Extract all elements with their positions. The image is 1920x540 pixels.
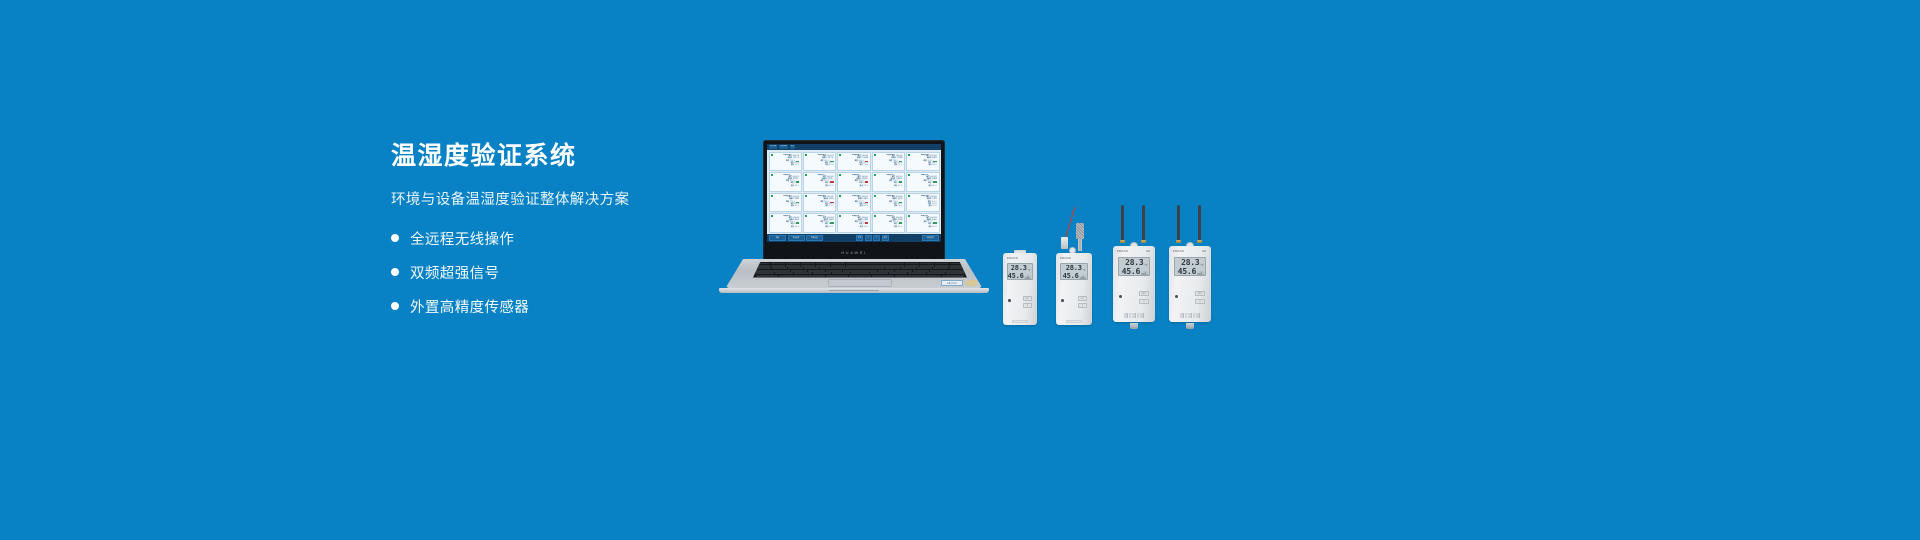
card-field-rows: 编号0004-001通道名原料库温度20.5 ℃湿度49.7 %露点6.0 ℃ [771,218,800,229]
device-brand-label: ENCON [1117,250,1128,253]
device-sensor-port [1186,323,1194,329]
lcd-footer-text: REC [1061,276,1086,278]
device-wireless-logger-1: ENCON H8 28.3 ℃ 45.6 %RH REC SET ▼ [1113,205,1155,325]
card-field-label: 露点 [894,227,897,229]
pager-page-1[interactable]: 1 [865,235,872,241]
keyboard-key[interactable] [779,275,801,277]
monitoring-card[interactable]: 监测点13编号0003-003通道名称量间温度22.7 ℃湿度46.8 %露点6… [837,193,870,213]
device-status-led [1175,295,1178,298]
card-field-row: 露点8.2 ℃ [805,186,834,188]
card-field-label: 露点 [929,186,932,188]
device-probe-logger: ENCON 28.3 ℃ 45.6 %RH REC SET ▼ [1056,239,1092,325]
laptop-base: CE FCC [719,259,989,296]
device-compact-logger: ENCON 28.3 ℃ 45.6 %RH REC SET ▼ [1003,253,1037,325]
card-field-rows: 编号0003-001通道名灭菌柜温度27.4 ℃湿度44.2 %露点9.1 ℃ [771,197,800,208]
lcd-temperature-value: 28.3 [1011,264,1027,272]
bullet-dot-icon [391,234,399,242]
device-lcd-display: 28.3 ℃ 45.6 %RH REC [1118,257,1150,276]
device-brand-label: ENCON [1060,257,1071,260]
monitoring-card[interactable]: 监测点19编号0004-004通道名试验箱温度26.7 ℃湿度53.1 %露点8… [872,213,905,233]
card-field-value: 7.6 ℃ [898,206,902,208]
device-status-led [1061,299,1064,302]
card-field-row: 露点8.4 ℃ [839,227,868,229]
card-field-rows: 编号0003-002通道名洁净区温度23.5 ℃湿度45.9 %露点7.3 ℃ [805,197,834,208]
card-field-value: 6.0 ℃ [795,227,799,229]
keyboard-key[interactable] [802,275,824,277]
keyboard-key[interactable] [918,275,940,277]
card-field-label: 露点 [929,227,932,229]
export-report-button[interactable]: 导出报表 [788,235,805,241]
card-field-row: 露点8.6 ℃ [908,186,937,188]
lcd-temperature-value: 28.3 [1066,264,1082,272]
card-field-rows: 编号0004-004通道名试验箱温度26.7 ℃湿度53.1 %露点8.9 ℃ [874,218,903,229]
device-status-led [1008,299,1011,302]
card-field-rows: 编号0001-001通道名冷库一区温度17.5 ℃湿度45.8 %露点5.2 ℃ [771,156,800,167]
tab-history[interactable]: 历史数据 [779,145,787,149]
card-field-label: 露点 [791,227,794,229]
card-field-value: 6.9 ℃ [864,206,868,208]
monitoring-card[interactable]: 监测点20编号0004-005通道名备用点温度22.1 ℃湿度46.4 %露点6… [906,213,939,233]
device-body: ENCON 28.3 ℃ 45.6 %RH REC SET ▼ [1056,253,1092,325]
device-down-button[interactable]: ▼ [1023,303,1032,308]
monitoring-card[interactable]: 监测点14编号0003-004通道名包装间温度24.2 ℃湿度48.1 %露点7… [872,193,905,213]
card-field-value: 6.1 ℃ [932,206,936,208]
card-field-row: 露点5.6 ℃ [805,165,834,167]
lcd-temperature-line: 28.3 ℃ [1063,264,1086,272]
device-lcd-display: 28.3 ℃ 45.6 %RH REC [1174,257,1206,276]
device-lineup: ENCON 28.3 ℃ 45.6 %RH REC SET ▼ [1003,195,1243,325]
device-bottom-grip [1012,320,1028,323]
device-wireless-logger-2: ENCON H8 28.3 ℃ 45.6 %RH REC SET ▼ [1169,205,1211,325]
card-field-label: 露点 [825,165,828,167]
card-field-value: 6.3 ℃ [864,186,868,188]
card-field-label: 露点 [825,227,828,229]
device-lcd-display: 28.3 ℃ 45.6 %RH REC [1007,263,1033,280]
device-brand-label: ENCON [1007,257,1018,260]
antenna-base-left [1176,240,1181,243]
device-lcd-display: 28.3 ℃ 45.6 %RH REC [1060,263,1088,280]
device-down-button[interactable]: ▼ [1139,299,1149,304]
lcd-footer-text: REC [1119,272,1148,274]
card-field-row: 露点5.8 ℃ [805,227,834,229]
keyboard-key[interactable] [895,275,917,277]
card-field-rows: 编号0001-003通道名恒温箱A温度24.6 ℃湿度52.1 %露点7.4 ℃ [839,156,868,167]
device-set-button[interactable]: SET [1139,291,1149,296]
antenna-left [1121,205,1124,242]
card-field-value: 8.9 ℃ [898,227,902,229]
card-field-rows: 编号0004-005通道名备用点温度22.1 ℃湿度46.4 %露点6.5 ℃ [908,218,937,229]
card-field-label: 露点 [825,186,828,188]
card-field-row: 露点6.5 ℃ [908,227,937,229]
keyboard-row [756,275,964,277]
card-field-row: 露点7.6 ℃ [874,206,903,208]
card-field-label: 露点 [791,206,794,208]
card-field-value: 8.6 ℃ [932,186,936,188]
card-field-label: 露点 [860,206,863,208]
monitoring-card[interactable]: 监测点12编号0003-002通道名洁净区温度23.5 ℃湿度45.9 %露点7… [803,193,836,213]
lcd-temperature-line: 28.3 ℃ [1177,258,1204,267]
monitoring-card[interactable]: 监测点02编号0001-002通道名冷库二区温度18.1 ℃湿度46.3 %露点… [803,152,836,172]
feature-label: 双频超强信号 [410,262,499,283]
card-field-value: 6.5 ℃ [932,227,936,229]
card-field-rows: 编号0003-005通道名中控室温度21.3 ℃湿度47.2 %露点6.1 ℃ [908,197,937,208]
monitoring-card[interactable]: 监测点06编号0002-001通道名阴凉库一温度19.2 ℃湿度47.5 %露点… [769,172,802,192]
device-model-label: H8 [1202,250,1206,253]
feature-label: 全远程无线操作 [410,228,514,249]
device-down-button[interactable]: ▼ [1078,303,1087,308]
monitoring-card[interactable]: 监测点07编号0002-002通道名阴凉库二温度25.3 ℃湿度53.6 %露点… [803,172,836,192]
monitoring-card-grid: 监测点01编号0001-001通道名冷库一区温度17.5 ℃湿度45.8 %露点… [767,150,941,234]
card-field-value: 8.4 ℃ [864,227,868,229]
monitoring-card[interactable]: 监测点18编号0004-003通道名运输箱温度25.9 ℃湿度52.6 %露点8… [837,213,870,233]
device-sensor-port [1130,323,1138,329]
card-field-row: 露点7.4 ℃ [839,165,868,167]
card-field-rows: 编号0004-002通道名成品库温度19.8 ℃湿度50.3 %露点5.8 ℃ [805,218,834,229]
gold-sticker [965,280,978,286]
card-field-rows: 编号0001-004通道名恒温箱B温度23.9 ℃湿度50.7 %露点7.1 ℃ [874,156,903,167]
certification-sticker: CE FCC [941,280,963,286]
card-field-label: 露点 [860,227,863,229]
tab-realtime[interactable]: 实时数据 [769,145,777,149]
card-field-row: 露点6.0 ℃ [771,227,800,229]
monitoring-card[interactable]: 监测点03编号0001-003通道名恒温箱A温度24.6 ℃湿度52.1 %露点… [837,152,870,172]
device-body: ENCON 28.3 ℃ 45.6 %RH REC SET ▼ [1003,253,1037,325]
device-bottom-grip [1066,320,1082,323]
monitoring-card[interactable]: 监测点04编号0001-004通道名恒温箱B温度23.9 ℃湿度50.7 %露点… [872,152,905,172]
antenna-left [1177,205,1180,242]
card-field-value: 9.1 ℃ [795,206,799,208]
card-field-value: 5.8 ℃ [829,227,833,229]
device-body: ENCON H8 28.3 ℃ 45.6 %RH REC SET ▼ [1113,246,1155,322]
lcd-temperature-line: 28.3 ℃ [1010,264,1031,272]
monitoring-card[interactable]: 监测点01编号0001-001通道名冷库一区温度17.5 ℃湿度45.8 %露点… [769,152,802,172]
card-field-row: 露点9.1 ℃ [771,206,800,208]
pager-last[interactable]: 末页 [882,235,889,241]
card-field-row: 露点5.9 ℃ [771,186,800,188]
app-toolbar: 刷新 导出报表 参数设置 首页 1 2 末页 退出登录 [767,234,941,242]
probe-connector [1061,237,1068,249]
laptop-lid: 实时数据 历史数据 报警 监测点01编号0001-001通道名冷库一区温度17.… [763,140,945,262]
antenna-base-right [1141,240,1146,243]
card-field-rows: 编号0001-002通道名冷库二区温度18.1 ℃湿度46.3 %露点5.6 ℃ [805,156,834,167]
monitoring-card[interactable]: 监测点16编号0004-001通道名原料库温度20.5 ℃湿度49.7 %露点6… [769,213,802,233]
lcd-temperature-line: 28.3 ℃ [1121,258,1148,267]
card-field-rows: 编号0002-001通道名阴凉库一温度19.2 ℃湿度47.5 %露点5.9 ℃ [771,177,800,188]
antenna-right [1142,205,1145,242]
card-field-value: 8.2 ℃ [829,186,833,188]
monitoring-card[interactable]: 监测点05编号0001-005通道名留样室温度22.4 ℃湿度48.9 %露点6… [906,152,939,172]
card-field-rows: 编号0002-005通道名培养箱温度26.1 ℃湿度54.8 %露点8.6 ℃ [908,177,937,188]
card-field-row: 露点6.3 ℃ [839,186,868,188]
monitoring-card[interactable]: 监测点11编号0003-001通道名灭菌柜温度27.4 ℃湿度44.2 %露点9… [769,193,802,213]
card-field-rows: 编号0004-003通道名运输箱温度25.9 ℃湿度52.6 %露点8.4 ℃ [839,218,868,229]
card-field-label: 露点 [929,165,932,167]
device-set-button[interactable]: SET [1078,296,1087,301]
device-brand-label: ENCON [1173,250,1184,253]
settings-button[interactable]: 参数设置 [806,235,823,241]
monitoring-card[interactable]: 监测点15编号0003-005通道名中控室温度21.3 ℃湿度47.2 %露点6… [906,193,939,213]
card-field-rows: 编号0002-003通道名冷藏车01温度20.8 ℃湿度49.2 %露点6.3 … [839,177,868,188]
card-field-rows: 编号0003-004通道名包装间温度24.2 ℃湿度48.1 %露点7.6 ℃ [874,197,903,208]
laptop-keyboard[interactable] [753,262,967,278]
lcd-temperature-value: 28.3 [1125,258,1143,267]
card-field-value: 7.4 ℃ [864,165,868,167]
monitoring-card[interactable]: 监测点09编号0002-004通道名冷藏车02温度21.6 ℃湿度51.4 %露… [872,172,905,192]
device-status-led [1119,295,1122,298]
tab-alarm[interactable]: 报警 [790,145,795,149]
card-field-row: 露点7.3 ℃ [805,206,834,208]
card-field-rows: 编号0003-003通道名称量间温度22.7 ℃湿度46.8 %露点6.9 ℃ [839,197,868,208]
logout-button[interactable]: 退出登录 [922,235,939,241]
probe-stem [1078,237,1082,251]
laptop-trackpad[interactable] [828,279,892,287]
card-field-rows: 编号0002-004通道名冷藏车02温度21.6 ℃湿度51.4 %露点6.7 … [874,177,903,188]
card-field-value: 5.6 ℃ [829,165,833,167]
card-field-label: 露点 [825,206,828,208]
keyboard-key[interactable] [826,275,848,277]
card-field-row: 露点6.8 ℃ [908,165,937,167]
monitoring-card[interactable]: 监测点17编号0004-002通道名成品库温度19.8 ℃湿度50.3 %露点5… [803,213,836,233]
monitoring-card[interactable]: 监测点08编号0002-003通道名冷藏车01温度20.8 ℃湿度49.2 %露… [837,172,870,192]
card-field-value: 7.3 ℃ [829,206,833,208]
pager-first[interactable]: 首页 [856,235,863,241]
card-field-rows: 编号0002-002通道名阴凉库二温度25.3 ℃湿度53.6 %露点8.2 ℃ [805,177,834,188]
card-field-value: 6.8 ℃ [932,165,936,167]
device-set-button[interactable]: SET [1195,291,1205,296]
feature-label: 外置高精度传感器 [410,296,529,317]
laptop-lid-notch [829,290,879,292]
lcd-footer-text: REC [1008,276,1031,278]
card-field-label: 露点 [791,186,794,188]
card-field-rows: 编号0001-005通道名留样室温度22.4 ℃湿度48.9 %露点6.8 ℃ [908,156,937,167]
pager-page-2[interactable]: 2 [873,235,880,241]
keyboard-key[interactable] [872,275,894,277]
keyboard-key[interactable] [756,275,778,277]
card-field-value: 5.9 ℃ [795,186,799,188]
laptop-screen: 实时数据 历史数据 报警 监测点01编号0001-001通道名冷库一区温度17.… [767,144,941,242]
feature-item: 外置高精度传感器 [391,296,811,317]
lcd-footer-text: REC [1175,272,1204,274]
card-field-row: 露点7.1 ℃ [874,165,903,167]
antenna-right [1198,205,1201,242]
card-field-row: 露点6.1 ℃ [908,206,937,208]
antenna-base-right [1197,240,1202,243]
antenna-base-left [1120,240,1125,243]
device-body: ENCON H8 28.3 ℃ 45.6 %RH REC SET ▼ [1169,246,1211,322]
probe-filter-cap [1076,223,1084,239]
monitoring-card[interactable]: 监测点10编号0002-005通道名培养箱温度26.1 ℃湿度54.8 %露点8… [906,172,939,192]
card-field-label: 露点 [894,165,897,167]
device-down-button[interactable]: ▼ [1195,299,1205,304]
device-vent-grille [1180,313,1200,318]
card-field-row: 露点8.9 ℃ [874,227,903,229]
bullet-dot-icon [391,268,399,276]
card-field-row: 露点5.2 ℃ [771,165,800,167]
card-field-label: 露点 [929,206,932,208]
card-field-row: 露点6.7 ℃ [874,186,903,188]
card-field-value: 5.2 ℃ [795,165,799,167]
card-field-value: 7.1 ℃ [898,165,902,167]
device-model-label: H8 [1146,250,1150,253]
card-field-label: 露点 [894,206,897,208]
keyboard-key[interactable] [942,275,964,277]
card-field-label: 露点 [791,165,794,167]
device-vent-grille [1124,313,1144,318]
keyboard-key[interactable] [849,275,871,277]
refresh-button[interactable]: 刷新 [769,235,786,241]
card-field-row: 露点6.9 ℃ [839,206,868,208]
card-field-label: 露点 [860,165,863,167]
card-field-label: 露点 [894,186,897,188]
card-field-label: 露点 [860,186,863,188]
laptop-deck: CE FCC [725,259,983,289]
device-set-button[interactable]: SET [1023,296,1032,301]
lcd-temperature-value: 28.3 [1181,258,1199,267]
bullet-dot-icon [391,302,399,310]
laptop-product-image: 实时数据 历史数据 报警 监测点01编号0001-001通道名冷库一区温度17.… [719,140,989,296]
card-field-value: 6.7 ℃ [898,186,902,188]
